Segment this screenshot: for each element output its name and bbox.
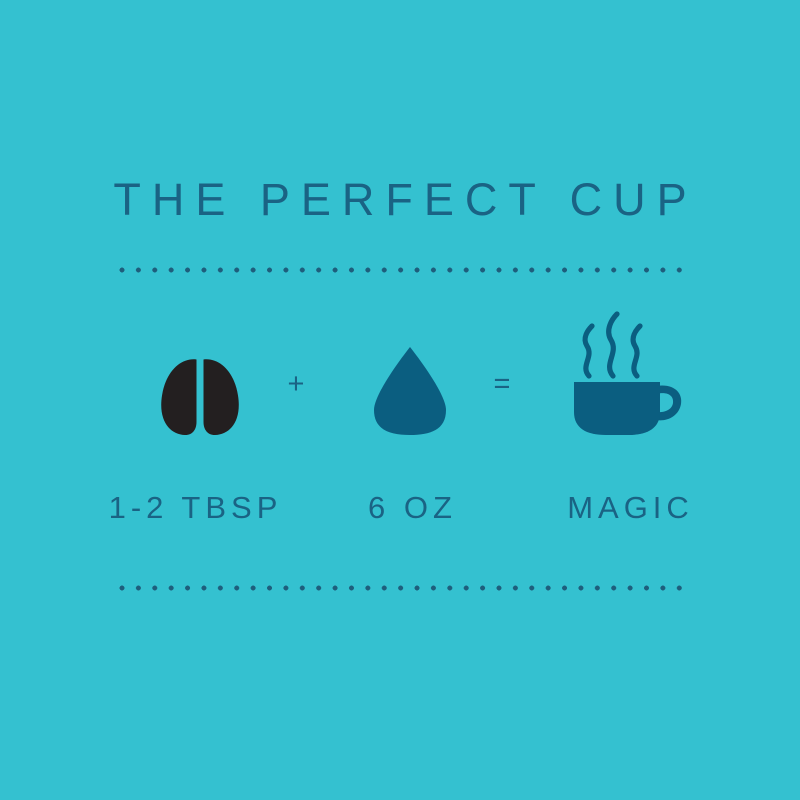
equals-icon: = xyxy=(476,374,528,394)
coffee-bean-slot xyxy=(140,300,260,445)
label-water-amount: 6 OZ xyxy=(330,487,490,529)
steaming-coffee-cup-icon xyxy=(556,300,696,445)
dotted-rule-top xyxy=(119,267,692,273)
label-result: MAGIC xyxy=(548,487,708,529)
equals-operator-slot: = xyxy=(476,300,528,445)
perfect-cup-poster: THE PERFECT CUP + = xyxy=(0,0,800,800)
cup-body xyxy=(574,382,660,435)
steam-line-center xyxy=(609,314,617,376)
steam-line-right xyxy=(633,326,640,376)
coffee-bean-icon xyxy=(140,300,260,445)
water-drop-slot xyxy=(350,300,470,445)
recipe-label-row: 1-2 TBSP 6 OZ MAGIC xyxy=(0,487,800,533)
label-coffee-amount: 1-2 TBSP xyxy=(93,487,293,529)
plus-operator-slot: + xyxy=(270,300,322,445)
coffee-cup-slot xyxy=(556,300,696,445)
water-drop-icon xyxy=(350,300,470,445)
page-title: THE PERFECT CUP xyxy=(0,176,800,224)
recipe-icon-row: + = xyxy=(0,300,800,445)
plus-icon: + xyxy=(270,374,322,394)
steam-line-left xyxy=(585,326,592,376)
dotted-rule-bottom xyxy=(119,585,692,591)
